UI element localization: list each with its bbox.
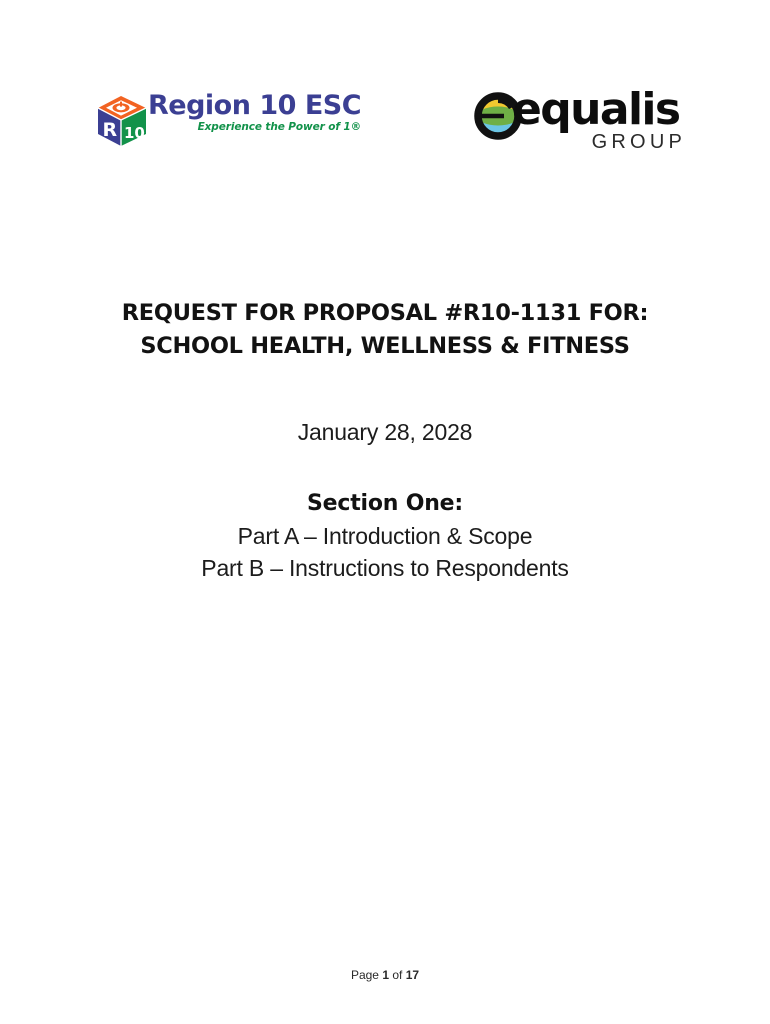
title-block: REQUEST FOR PROPOSAL #R10-1131 FOR: SCHO… <box>0 297 770 584</box>
document-page: R 10 Region 10 ESC Experience the Power … <box>0 0 770 1024</box>
svg-text:R: R <box>103 119 118 141</box>
section-part-b: Part B – Instructions to Respondents <box>0 552 770 584</box>
footer-prefix: Page <box>351 968 382 982</box>
footer-current-page: 1 <box>382 968 389 982</box>
page-footer: Page 1 of 17 <box>0 968 770 982</box>
logo-header: R 10 Region 10 ESC Experience the Power … <box>0 88 770 168</box>
equalis-logo: equalis GROUP <box>474 88 686 168</box>
section-part-a: Part A – Introduction & Scope <box>0 520 770 552</box>
document-date: January 28, 2028 <box>0 419 770 446</box>
equalis-wordmark: equalis <box>512 88 688 132</box>
section-heading: Section One: <box>0 488 770 520</box>
footer-separator: of <box>389 968 406 982</box>
region10-logo: R 10 Region 10 ESC Experience the Power … <box>94 88 364 166</box>
region10-cube-icon: R 10 <box>94 92 150 148</box>
region10-wordmark: Region 10 ESC <box>148 92 363 120</box>
equalis-wordmark-group: equalis GROUP <box>512 88 688 154</box>
region10-wordmark-group: Region 10 ESC Experience the Power of 1® <box>148 92 363 133</box>
svg-text:10: 10 <box>124 124 145 142</box>
region10-tagline: Experience the Power of 1® <box>148 121 363 133</box>
page-title: REQUEST FOR PROPOSAL #R10-1131 FOR: SCHO… <box>0 297 770 363</box>
section-block: Section One: Part A – Introduction & Sco… <box>0 488 770 584</box>
page-title-line-2: SCHOOL HEALTH, WELLNESS & FITNESS <box>0 330 770 363</box>
page-title-line-1: REQUEST FOR PROPOSAL #R10-1131 FOR: <box>0 297 770 330</box>
footer-total-pages: 17 <box>406 968 419 982</box>
